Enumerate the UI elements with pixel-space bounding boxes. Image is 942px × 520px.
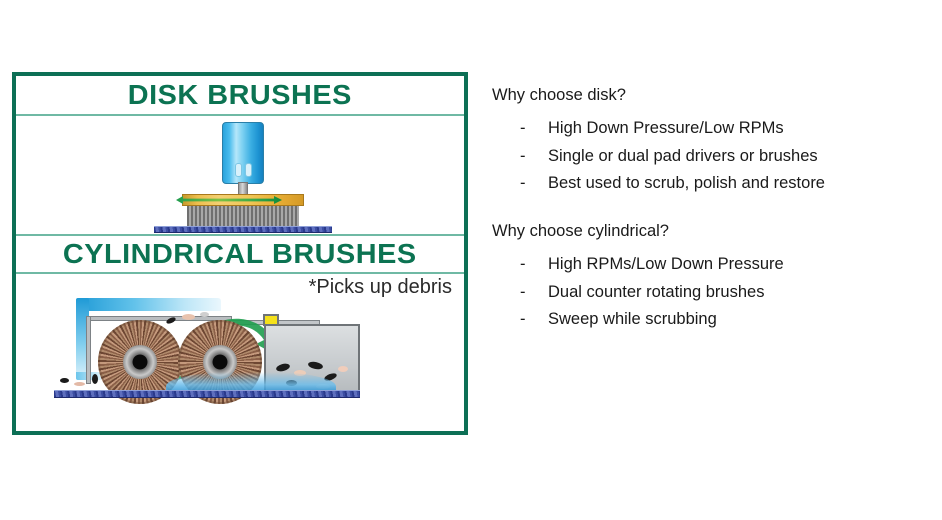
list-item: - Dual counter rotating brushes bbox=[492, 284, 922, 301]
motor-housing-icon bbox=[222, 122, 264, 184]
cylindrical-brush-illustration: *Picks up debris bbox=[16, 274, 464, 422]
disk-bullet-list: - High Down Pressure/Low RPMs - Single o… bbox=[492, 120, 922, 192]
brush-comparison-infographic: DISK BRUSHES CYLINDRICAL BRUSHES bbox=[12, 72, 468, 435]
list-item-label: High Down Pressure/Low RPMs bbox=[548, 120, 784, 137]
list-item-label: Sweep while scrubbing bbox=[548, 311, 717, 328]
bullet-dash-icon: - bbox=[520, 175, 548, 192]
debris-particle bbox=[182, 314, 195, 320]
list-item-label: Dual counter rotating brushes bbox=[548, 284, 764, 301]
cylindrical-section: Why choose cylindrical? - High RPMs/Low … bbox=[492, 220, 922, 328]
motor-vent-left-icon bbox=[235, 163, 242, 177]
squeegee-housing-top-icon bbox=[76, 298, 221, 311]
list-item-label: Best used to scrub, polish and restore bbox=[548, 175, 825, 192]
debris-particle bbox=[200, 312, 209, 317]
bullet-dash-icon: - bbox=[520, 256, 548, 273]
hopper-latch-icon bbox=[263, 314, 279, 326]
debris-particle bbox=[74, 382, 85, 386]
list-item-label: Single or dual pad drivers or brushes bbox=[548, 148, 818, 165]
list-item: - High RPMs/Low Down Pressure bbox=[492, 256, 922, 273]
bullet-dash-icon: - bbox=[520, 148, 548, 165]
disk-bristles-icon bbox=[187, 206, 299, 228]
pad-driver-plate-icon bbox=[182, 194, 304, 206]
disk-section-heading: Why choose disk? bbox=[492, 84, 922, 106]
debris-particle bbox=[307, 361, 323, 371]
debris-particle bbox=[92, 374, 98, 384]
cylindrical-section-heading: Why choose cylindrical? bbox=[492, 220, 922, 242]
cylindrical-bullet-list: - High RPMs/Low Down Pressure - Dual cou… bbox=[492, 256, 922, 328]
debris-particle bbox=[60, 378, 69, 383]
list-item: - Best used to scrub, polish and restore bbox=[492, 175, 922, 192]
list-item: - Single or dual pad drivers or brushes bbox=[492, 148, 922, 165]
floor-surface-disk bbox=[154, 226, 332, 233]
cylindrical-brushes-title-bar: CYLINDRICAL BRUSHES bbox=[16, 234, 464, 274]
disk-brushes-title: DISK BRUSHES bbox=[128, 81, 352, 109]
bullet-dash-icon: - bbox=[520, 284, 548, 301]
disk-brushes-title-bar: DISK BRUSHES bbox=[16, 76, 464, 116]
deck-frame-side-icon bbox=[86, 316, 91, 384]
disk-brush-illustration bbox=[16, 116, 464, 234]
cylindrical-brushes-title: CYLINDRICAL BRUSHES bbox=[63, 240, 417, 268]
bullet-dash-icon: - bbox=[520, 120, 548, 137]
picks-up-debris-note: *Picks up debris bbox=[309, 276, 452, 299]
debris-particle bbox=[338, 366, 348, 372]
list-item-label: High RPMs/Low Down Pressure bbox=[548, 256, 784, 273]
floor-surface-cylindrical bbox=[54, 390, 360, 398]
water-spray-icon bbox=[166, 372, 336, 390]
debris-particle bbox=[275, 362, 290, 372]
brush-comparison-text: Why choose disk? - High Down Pressure/Lo… bbox=[492, 84, 922, 339]
list-item: - Sweep while scrubbing bbox=[492, 311, 922, 328]
disk-section: Why choose disk? - High Down Pressure/Lo… bbox=[492, 84, 922, 192]
list-item: - High Down Pressure/Low RPMs bbox=[492, 120, 922, 137]
motor-vent-right-icon bbox=[245, 163, 252, 177]
bullet-dash-icon: - bbox=[520, 311, 548, 328]
